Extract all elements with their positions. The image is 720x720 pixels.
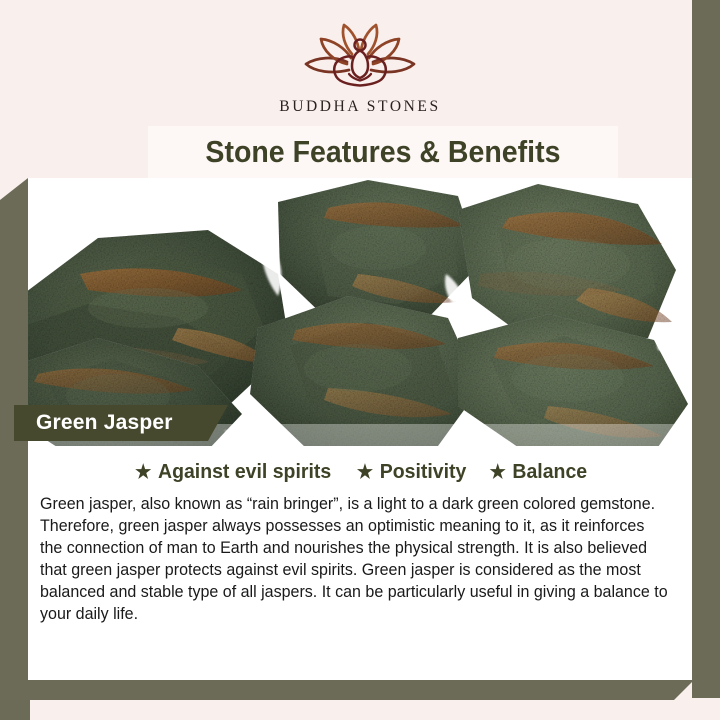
brand-wordmark: BUDDHA STONES — [279, 98, 440, 116]
benefit-item: ★ Against evil spirits — [135, 460, 331, 484]
header: BUDDHA STONES Stone Features & Benefits — [28, 0, 692, 178]
frame-bottom-left-stub — [0, 694, 30, 720]
page-title-box: Stone Features & Benefits — [148, 126, 618, 178]
star-icon: ★ — [490, 463, 506, 482]
stone-description: Green jasper, also known as “rain bringe… — [40, 493, 668, 625]
stone-name-label: Green Jasper — [36, 411, 173, 435]
star-icon: ★ — [357, 463, 373, 482]
benefits-row: ★ Against evil spirits ★ Positivity ★ Ba… — [28, 446, 692, 484]
infographic-page: BUDDHA STONES Stone Features & Benefits — [0, 0, 720, 720]
stone-name-banner: Green Jasper — [14, 405, 228, 441]
lotus-meditation-icon — [301, 22, 419, 94]
benefit-label: Positivity — [380, 460, 467, 484]
benefit-label: Against evil spirits — [158, 460, 331, 484]
content-card: ★ Against evil spirits ★ Positivity ★ Ba… — [28, 446, 692, 680]
benefit-item: ★ Positivity — [357, 460, 466, 484]
page-title: Stone Features & Benefits — [205, 134, 560, 170]
benefit-item: ★ Balance — [490, 460, 588, 484]
brand-logo: BUDDHA STONES — [28, 22, 692, 116]
benefit-label: Balance — [513, 460, 588, 484]
frame-right-border — [692, 38, 720, 698]
star-icon: ★ — [135, 463, 151, 482]
